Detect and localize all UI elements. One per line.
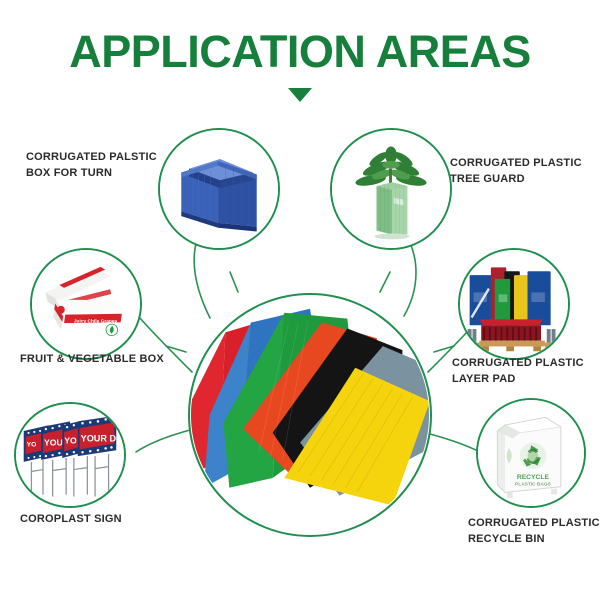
label-layer-pad-line1: CORRUGATED PLASTIC [452, 356, 597, 372]
label-layer-pad-line2: LAYER PAD [452, 372, 597, 388]
node-tree-guard[interactable] [330, 128, 452, 250]
label-tree-guard-line1: CORRUGATED PLASTIC [450, 156, 595, 172]
svg-text:YO: YO [27, 441, 37, 448]
label-tree-guard: CORRUGATED PLASTIC TREE GUARD [450, 156, 595, 188]
application-areas-infographic: APPLICATION AREAS [0, 0, 600, 600]
recycle-bin-image: RECYCLE PLASTIC BAGS [478, 400, 584, 506]
label-recycle-bin-line2: RECYCLE BIN [468, 532, 600, 548]
label-layer-pad: CORRUGATED PLASTIC LAYER PAD [452, 356, 597, 388]
sign-text: YOUR DESIGN [81, 434, 124, 444]
label-coroplast-sign-line1: COROPLAST SIGN [20, 512, 180, 528]
yard-sign-image: YO YOUR [16, 404, 124, 506]
bin-text-plastic-bags: PLASTIC BAGS [515, 482, 552, 488]
label-turn-box-line1: CORRUGATED PALSTIC [26, 150, 166, 166]
label-tree-guard-line2: TREE GUARD [450, 172, 595, 188]
node-recycle-bin[interactable]: RECYCLE PLASTIC BAGS [476, 398, 586, 508]
label-turn-box: CORRUGATED PALSTIC BOX FOR TURN [26, 150, 166, 182]
layer-pad-image [460, 250, 568, 358]
node-turn-box[interactable] [158, 128, 280, 250]
corrugated-plastic-sheet-fan-image [190, 295, 430, 535]
tree-guard-image [332, 130, 450, 248]
blue-corrugated-turnover-box-image [160, 130, 278, 248]
label-turn-box-line2: BOX FOR TURN [26, 166, 166, 182]
label-fruit-veg-box: FRUIT & VEGETABLE BOX [20, 352, 190, 368]
svg-text:YO: YO [64, 436, 77, 446]
center-hub-sheets[interactable] [188, 293, 432, 537]
node-fruit-veg-box[interactable]: Juicy Chile Grapes [30, 248, 142, 360]
produce-boxes-image: Juicy Chile Grapes [32, 250, 140, 358]
node-coroplast-sign[interactable]: YO YOUR [14, 402, 126, 508]
bin-text-recycle: RECYCLE [517, 474, 550, 481]
label-fruit-veg-box-line1: FRUIT & VEGETABLE BOX [20, 352, 190, 368]
svg-text:Juicy Chile Grapes: Juicy Chile Grapes [74, 319, 118, 325]
node-layer-pad[interactable] [458, 248, 570, 360]
label-recycle-bin: CORRUGATED PLASTIC RECYCLE BIN [468, 516, 600, 548]
label-recycle-bin-line1: CORRUGATED PLASTIC [468, 516, 600, 532]
label-coroplast-sign: COROPLAST SIGN [20, 512, 180, 528]
